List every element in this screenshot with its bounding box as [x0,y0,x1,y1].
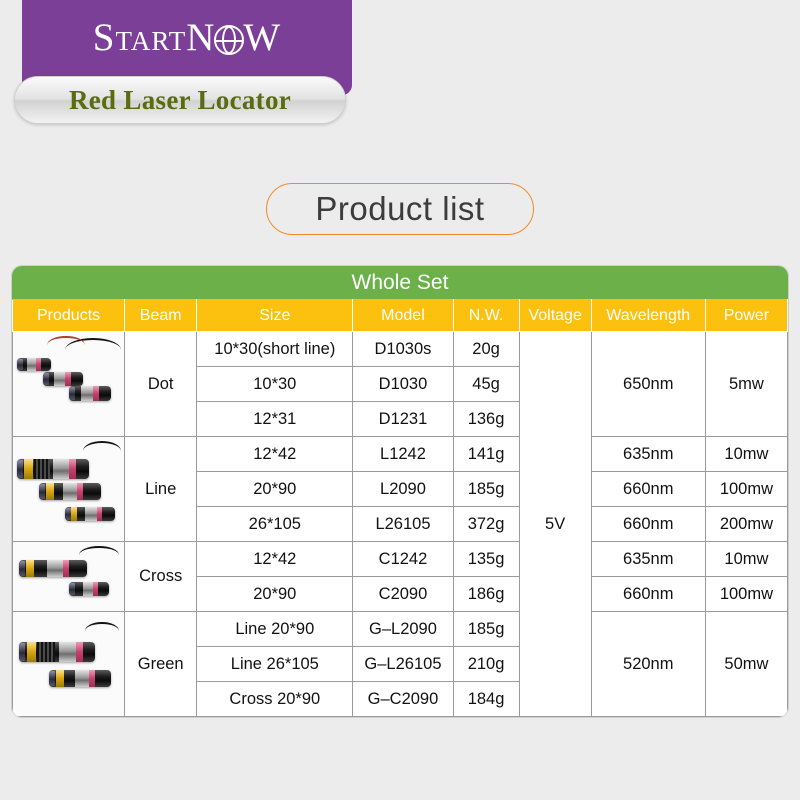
table-row: Dot 10*30(short line) D1030s 20g 5V 650n… [13,332,788,367]
col-header-products: Products [13,300,125,332]
product-photo-cross [13,542,125,612]
model-value: C1242 [353,542,453,577]
wavelength-value: 660nm [591,472,705,507]
size-value: Line 26*105 [197,647,353,682]
model-value: C2090 [353,577,453,612]
beam-type-line: Line [125,437,197,542]
model-value: L2090 [353,472,453,507]
subtitle-pill: Red Laser Locator [14,76,346,124]
table-row: Cross 12*42 C1242 135g 635nm 10mw [13,542,788,577]
brand-wordmark-after: W [243,16,281,59]
nw-value: 185g [453,612,519,647]
product-photo-green [13,612,125,717]
table-row: Line 12*42 L1242 141g 635nm 10mw [13,437,788,472]
product-photo-dot [13,332,125,437]
table-header-row: Products Beam Size Model N.W. Voltage Wa… [13,300,788,332]
col-header-voltage: Voltage [519,300,591,332]
model-value: L1242 [353,437,453,472]
nw-value: 20g [453,332,519,367]
col-header-wavelength: Wavelength [591,300,705,332]
nw-value: 135g [453,542,519,577]
wavelength-value: 520nm [591,612,705,717]
size-value: 12*42 [197,542,353,577]
brand-wordmark-before: StartN [93,16,216,59]
col-header-power: Power [705,300,787,332]
wavelength-value: 660nm [591,507,705,542]
size-value: Line 20*90 [197,612,353,647]
nw-value: 45g [453,367,519,402]
table-row: Green Line 20*90 G–L2090 185g 520nm 50mw [13,612,788,647]
power-value: 100mw [705,472,787,507]
nw-value: 186g [453,577,519,612]
wavelength-value: 635nm [591,542,705,577]
product-spec-table: Products Beam Size Model N.W. Voltage Wa… [12,299,788,717]
whole-set-header: Whole Set [12,266,788,299]
nw-value: 185g [453,472,519,507]
spec-table-container: Whole Set Products Beam Size Model N.W. … [12,266,788,717]
size-value: 10*30(short line) [197,332,353,367]
nw-value: 372g [453,507,519,542]
power-value: 100mw [705,577,787,612]
model-value: L26105 [353,507,453,542]
nw-value: 136g [453,402,519,437]
col-header-beam: Beam [125,300,197,332]
size-value: 12*31 [197,402,353,437]
subtitle-label: Red Laser Locator [15,77,345,123]
nw-value: 210g [453,647,519,682]
model-value: G–C2090 [353,682,453,717]
model-value: D1030s [353,332,453,367]
size-value: Cross 20*90 [197,682,353,717]
model-value: D1030 [353,367,453,402]
size-value: 10*30 [197,367,353,402]
power-value: 5mw [705,332,787,437]
nw-value: 141g [453,437,519,472]
wavelength-value: 650nm [591,332,705,437]
col-header-nw: N.W. [453,300,519,332]
size-value: 26*105 [197,507,353,542]
beam-type-dot: Dot [125,332,197,437]
col-header-size: Size [197,300,353,332]
col-header-model: Model [353,300,453,332]
power-value: 50mw [705,612,787,717]
model-value: G–L2090 [353,612,453,647]
product-photo-line [13,437,125,542]
wavelength-value: 660nm [591,577,705,612]
model-value: G–L26105 [353,647,453,682]
product-list-title: Product list [315,190,484,228]
beam-type-cross: Cross [125,542,197,612]
power-value: 10mw [705,542,787,577]
power-value: 200mw [705,507,787,542]
voltage-value: 5V [519,332,591,717]
size-value: 12*42 [197,437,353,472]
power-value: 10mw [705,437,787,472]
model-value: D1231 [353,402,453,437]
product-list-banner: Product list [266,183,534,235]
size-value: 20*90 [197,577,353,612]
wavelength-value: 635nm [591,437,705,472]
brand-wordmark: StartNW [30,16,344,60]
nw-value: 184g [453,682,519,717]
globe-icon [214,25,244,55]
size-value: 20*90 [197,472,353,507]
beam-type-green: Green [125,612,197,717]
